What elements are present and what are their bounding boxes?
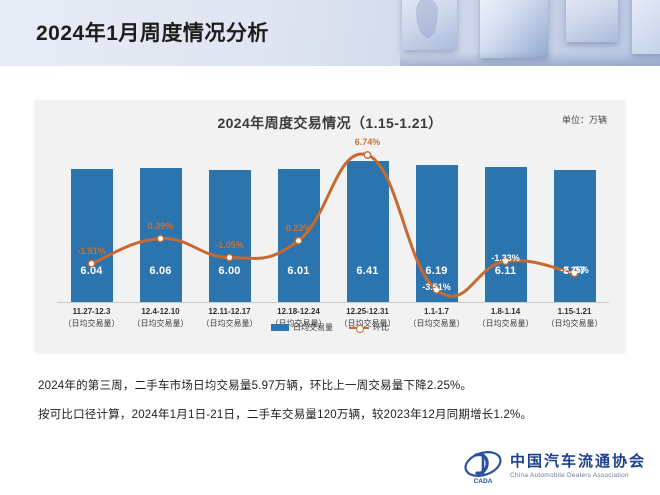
plot-area: 6.046.066.006.016.416.196.115.97 -1.51%0…	[57, 145, 609, 303]
bar-value-label: 6.11	[485, 265, 527, 277]
legend-label-bar: 日均交易量	[293, 322, 333, 333]
page-title: 2024年1月周度情况分析	[36, 17, 269, 47]
bar-value-label: 6.04	[71, 265, 113, 277]
bar-slot: 6.41	[333, 145, 402, 303]
cube-shadow	[400, 52, 660, 66]
chart-title: 2024年周度交易情况（1.15-1.21）	[35, 113, 625, 133]
bar: 5.97	[554, 170, 596, 303]
footer-logo: CADA 中国汽车流通协会 China Automobile Dealers A…	[463, 449, 646, 485]
bar-slot: 5.97	[540, 145, 609, 303]
bar-value-label: 6.01	[278, 265, 320, 277]
bar: 6.19	[416, 165, 458, 303]
paragraph-2: 按可比口径计算，2024年1月1日-21日，二手车交易量120万辆，较2023年…	[38, 407, 618, 424]
cube-shape-3	[566, 0, 618, 42]
bar: 6.00	[209, 170, 251, 303]
org-name-en: China Automobile Dealers Association	[510, 471, 646, 480]
logo-text-block: 中国汽车流通协会 China Automobile Dealers Associ…	[510, 454, 646, 480]
legend-item-line: 环比	[349, 322, 389, 333]
decorative-cubes-graphic	[400, 0, 660, 66]
paragraph-1: 2024年的第三周，二手车市场日均交易量5.97万辆，环比上一周交易量下降2.2…	[38, 378, 618, 395]
bar-slot: 6.19	[402, 145, 471, 303]
chart-legend: 日均交易量 环比	[35, 322, 625, 333]
cube-shape-1	[402, 0, 457, 50]
bar-series: 6.046.066.006.016.416.196.115.97	[57, 145, 609, 303]
bar-value-label: 5.97	[554, 265, 596, 277]
x-axis-label-range: 11.27-12.3	[57, 306, 126, 318]
body-text-block: 2024年的第三周，二手车市场日均交易量5.97万辆，环比上一周交易量下降2.2…	[38, 378, 618, 437]
org-name-cn: 中国汽车流通协会	[510, 454, 646, 471]
bar: 6.11	[485, 167, 527, 303]
header-banner: 2024年1月周度情况分析	[0, 0, 660, 66]
x-axis-label-range: 12.11-12.17	[195, 306, 264, 318]
bar: 6.06	[140, 168, 182, 303]
svg-text:CADA: CADA	[474, 478, 493, 485]
bar: 6.04	[71, 169, 113, 303]
legend-label-line: 环比	[373, 322, 389, 333]
bar-slot: 6.06	[126, 145, 195, 303]
bar: 6.41	[347, 161, 389, 304]
bar-value-label: 6.06	[140, 265, 182, 277]
cube-shape-2	[480, 0, 548, 58]
x-axis-label-range: 12.18-12.24	[264, 306, 333, 318]
bar-value-label: 6.00	[209, 265, 251, 277]
bar-slot: 6.01	[264, 145, 333, 303]
cube-shape-4	[632, 0, 660, 54]
chart-unit-label: 单位：万辆	[562, 113, 607, 126]
x-axis-label-range: 12.4-12.10	[126, 306, 195, 318]
legend-item-bar: 日均交易量	[271, 322, 333, 333]
bar-value-label: 6.41	[347, 265, 389, 277]
bar-slot: 6.04	[57, 145, 126, 303]
x-axis-label-range: 1.15-1.21	[540, 306, 609, 318]
world-map-motif	[416, 0, 438, 38]
x-axis-label-range: 1.8-1.14	[471, 306, 540, 318]
x-axis-line	[57, 302, 609, 303]
bar-slot: 6.00	[195, 145, 264, 303]
cada-logo-icon: CADA	[463, 449, 503, 485]
line-swatch-icon	[349, 324, 369, 332]
bar-slot: 6.11	[471, 145, 540, 303]
x-axis-label-range: 1.1-1.7	[402, 306, 471, 318]
bar-value-label: 6.19	[416, 265, 458, 277]
x-axis-label-range: 12.25-12.31	[333, 306, 402, 318]
bar-swatch-icon	[271, 324, 289, 331]
bar: 6.01	[278, 169, 320, 303]
chart-panel: 2024年周度交易情况（1.15-1.21） 单位：万辆 6.046.066.0…	[35, 100, 625, 352]
